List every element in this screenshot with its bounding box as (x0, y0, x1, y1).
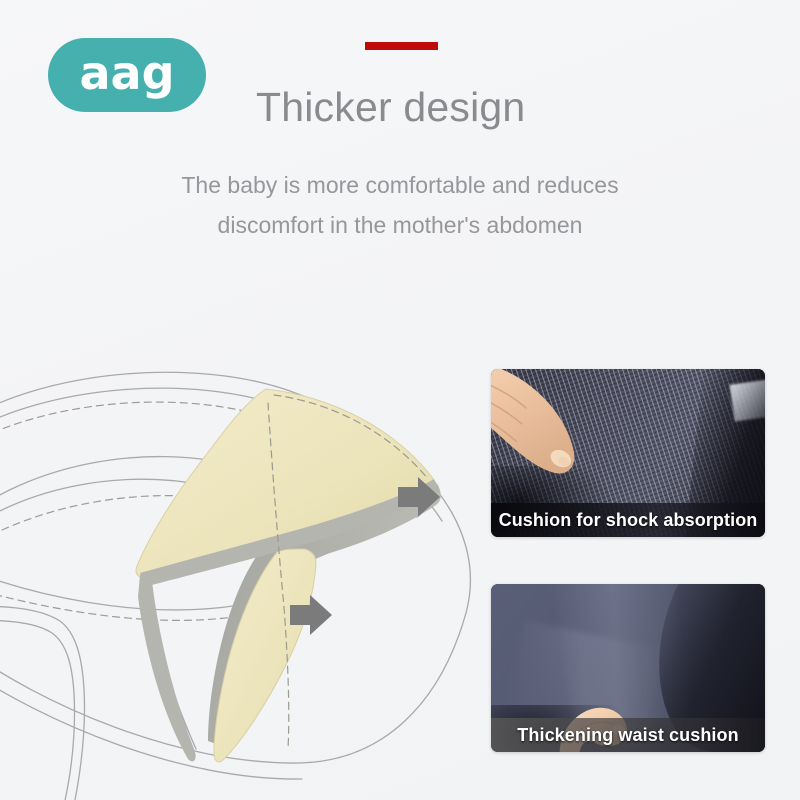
photo-caption-waist-cushion: Thickening waist cushion (491, 718, 765, 752)
cushion-lower-wedge (214, 549, 316, 762)
product-feature-page: aag Thicker design The baby is more comf… (0, 0, 800, 800)
carrier-cutaway-diagram (0, 345, 480, 800)
page-subtitle-line-2: discomfort in the mother's abdomen (100, 205, 700, 245)
accent-bar (365, 42, 438, 50)
photo-card-shock-absorption[interactable]: Cushion for shock absorption (491, 369, 765, 537)
cushion-left-edge-strip (138, 575, 196, 761)
brand-logo-text: aag (79, 50, 174, 96)
front-pocket-outline (0, 606, 85, 800)
page-subtitle-line-1: The baby is more comfortable and reduces (100, 165, 700, 205)
page-subtitle: The baby is more comfortable and reduces… (100, 165, 700, 245)
photo-caption-shock-absorption: Cushion for shock absorption (491, 503, 765, 537)
hand-pressing-cushion (491, 369, 617, 500)
photo-card-waist-cushion[interactable]: Thickening waist cushion (491, 584, 765, 752)
background-highlight (730, 380, 765, 422)
brand-logo: aag (48, 38, 206, 112)
page-title: Thicker design (256, 84, 676, 131)
